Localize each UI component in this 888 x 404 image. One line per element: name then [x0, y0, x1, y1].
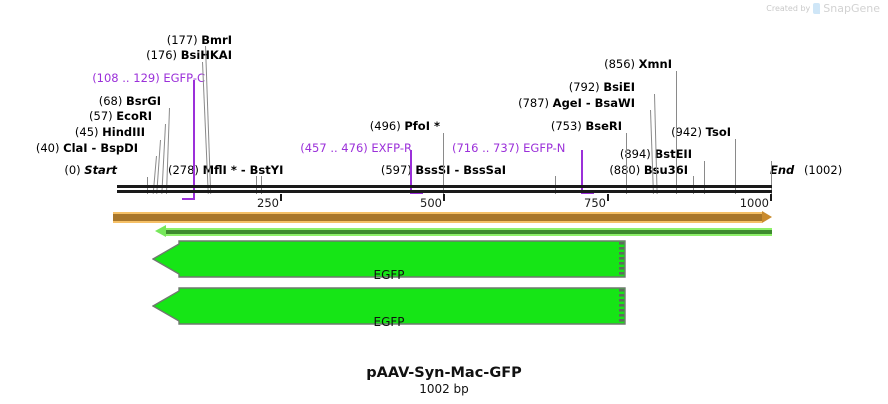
- primer-label-egfp-n: (716 .. 737) EGFP-N: [452, 142, 565, 154]
- site-label-ecori: (57) EcoRI: [89, 110, 152, 122]
- site-label-mfli-bstyi: (278) MflI * - BstYI: [168, 164, 283, 176]
- ruler-tick-500: [443, 194, 445, 201]
- site-label-bsihkai: (176) BsiHKAI: [146, 49, 232, 61]
- site-label-bsrgi: (68) BsrGI: [99, 95, 161, 107]
- primer-foot-egfp-c: [182, 198, 195, 200]
- leader-line-bsrgi: [166, 108, 170, 194]
- site-label-bmri: (177) BmrI: [167, 34, 232, 46]
- backbone-line-top: [117, 185, 772, 188]
- primer-leader-egfp-c: [193, 80, 195, 200]
- site-label-hindiii: (45) HindIII: [75, 126, 145, 138]
- ruler-label-750: 750: [584, 196, 606, 210]
- ruler-label-250: 250: [257, 196, 279, 210]
- site-label-pfoi: (496) PfoI *: [370, 120, 440, 132]
- plasmid-length: 1002 bp: [0, 382, 888, 396]
- ruler-label-1000: 1000: [740, 196, 769, 210]
- site-label-bsiei: (792) BsiEI: [569, 81, 635, 93]
- site-label-agei-bsawi: (787) AgeI - BsaWI: [518, 97, 635, 109]
- site-label-bseri: (753) BseRI: [551, 120, 622, 132]
- site-label-clai-bspdi: (40) ClaI - BspDI: [36, 142, 138, 154]
- plasmid-title: pAAV-Syn-Mac-GFP: [0, 365, 888, 381]
- backbone-end-label: End (1002): [770, 164, 842, 176]
- ruler-tick-250: [280, 194, 282, 201]
- orange-feature-arrowhead-icon: [762, 211, 772, 223]
- feature-arrow-egfp-1-label: EGFP: [152, 268, 626, 282]
- backbone-start-label: (0) Start: [64, 164, 117, 176]
- backbone-line-bottom: [117, 190, 772, 193]
- ruler-label-500: 500: [420, 196, 442, 210]
- watermark-brand-label: SnapGene: [823, 2, 880, 15]
- ruler-tick-1000: [770, 194, 772, 201]
- ruler-tick-750: [607, 194, 609, 201]
- snapgene-logo-icon: [813, 3, 820, 14]
- plasmid-map-canvas: Created by SnapGene (177) BmrI (176) Bsi…: [0, 0, 888, 404]
- thin-green-arrowhead-icon: [155, 225, 166, 237]
- primer-label-egfp-c: (108 .. 129) EGFP-C: [92, 72, 205, 84]
- leader-line-ecori: [161, 124, 166, 194]
- leader-line-bsiei: [654, 94, 658, 194]
- leader-line-xmni: [676, 71, 677, 194]
- watermark-created-by-label: Created by: [766, 4, 810, 13]
- snapgene-watermark: Created by SnapGene: [766, 2, 880, 15]
- primer-label-exfp-r: (457 .. 476) EXFP-R: [300, 142, 412, 154]
- thin-green-feature-bar[interactable]: [166, 228, 772, 236]
- feature-arrow-egfp-2-label: EGFP: [152, 315, 626, 329]
- site-label-xmni: (856) XmnI: [604, 58, 672, 70]
- orange-feature-bar[interactable]: [113, 212, 762, 223]
- site-label-tsoi: (942) TsoI: [671, 126, 731, 138]
